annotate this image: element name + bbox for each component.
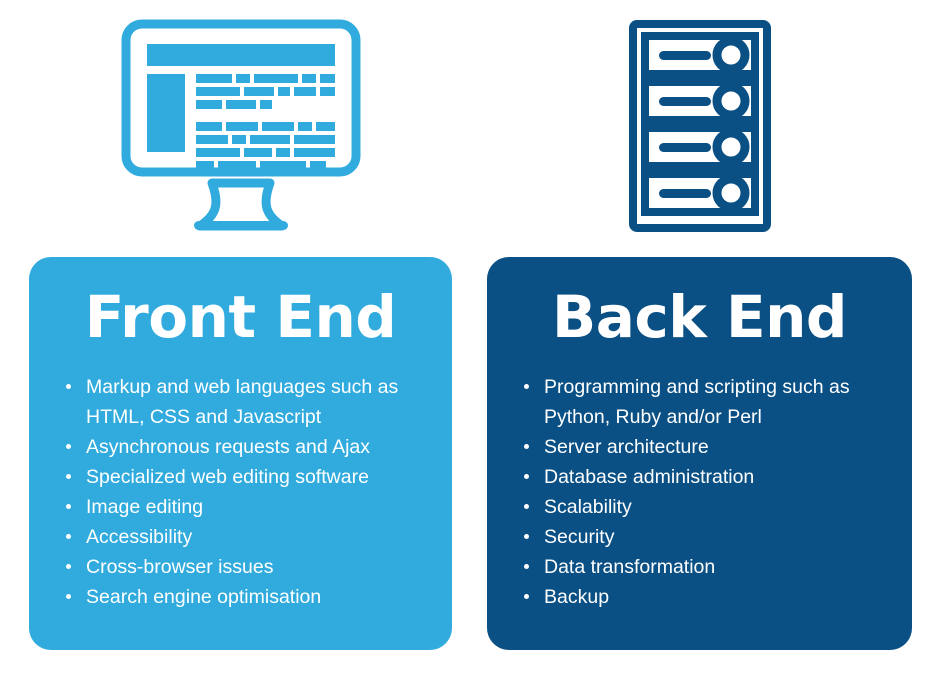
list-item: Cross-browser issues bbox=[60, 552, 434, 582]
bullet-icon bbox=[524, 474, 529, 479]
list-item-label: Programming and scripting such as Python… bbox=[544, 372, 894, 432]
list-item-label: Data transformation bbox=[544, 552, 894, 582]
icon-row bbox=[0, 0, 940, 250]
list-item-label: Accessibility bbox=[86, 522, 434, 552]
bullet-icon bbox=[524, 534, 529, 539]
back-end-title: Back End bbox=[487, 257, 912, 348]
list-item: Backup bbox=[518, 582, 894, 612]
bullet-icon bbox=[524, 444, 529, 449]
list-item: Specialized web editing software bbox=[60, 462, 434, 492]
bullet-icon bbox=[66, 534, 71, 539]
front-end-panel: Front End Markup and web languages such … bbox=[29, 257, 452, 650]
list-item-label: Database administration bbox=[544, 462, 894, 492]
server-rack-icon bbox=[629, 20, 771, 232]
back-end-panel: Back End Programming and scripting such … bbox=[487, 257, 912, 650]
list-item-label: Security bbox=[544, 522, 894, 552]
bullet-icon bbox=[66, 564, 71, 569]
bullet-icon bbox=[524, 384, 529, 389]
list-item-label: Markup and web languages such as HTML, C… bbox=[86, 372, 434, 432]
list-item: Programming and scripting such as Python… bbox=[518, 372, 894, 432]
back-end-icon-slot bbox=[487, 0, 912, 250]
list-item: Accessibility bbox=[60, 522, 434, 552]
bullet-icon bbox=[66, 444, 71, 449]
list-item-label: Cross-browser issues bbox=[86, 552, 434, 582]
list-item: Image editing bbox=[60, 492, 434, 522]
bullet-icon bbox=[524, 504, 529, 509]
desktop-monitor-icon bbox=[116, 18, 366, 233]
list-item-label: Specialized web editing software bbox=[86, 462, 434, 492]
list-item-label: Asynchronous requests and Ajax bbox=[86, 432, 434, 462]
list-item: Database administration bbox=[518, 462, 894, 492]
front-end-skill-list: Markup and web languages such as HTML, C… bbox=[29, 348, 452, 612]
bullet-icon bbox=[524, 594, 529, 599]
infographic-canvas: Front End Markup and web languages such … bbox=[0, 0, 940, 677]
bullet-icon bbox=[66, 594, 71, 599]
list-item: Markup and web languages such as HTML, C… bbox=[60, 372, 434, 432]
bullet-icon bbox=[524, 564, 529, 569]
list-item: Data transformation bbox=[518, 552, 894, 582]
back-end-skill-list: Programming and scripting such as Python… bbox=[487, 348, 912, 612]
list-item-label: Server architecture bbox=[544, 432, 894, 462]
list-item-label: Backup bbox=[544, 582, 894, 612]
bullet-icon bbox=[66, 474, 71, 479]
bullet-icon bbox=[66, 384, 71, 389]
list-item: Search engine optimisation bbox=[60, 582, 434, 612]
bullet-icon bbox=[66, 504, 71, 509]
list-item: Asynchronous requests and Ajax bbox=[60, 432, 434, 462]
front-end-icon-slot bbox=[29, 0, 452, 250]
list-item-label: Image editing bbox=[86, 492, 434, 522]
list-item-label: Search engine optimisation bbox=[86, 582, 434, 612]
list-item: Scalability bbox=[518, 492, 894, 522]
list-item: Security bbox=[518, 522, 894, 552]
list-item-label: Scalability bbox=[544, 492, 894, 522]
front-end-title: Front End bbox=[29, 257, 452, 348]
list-item: Server architecture bbox=[518, 432, 894, 462]
